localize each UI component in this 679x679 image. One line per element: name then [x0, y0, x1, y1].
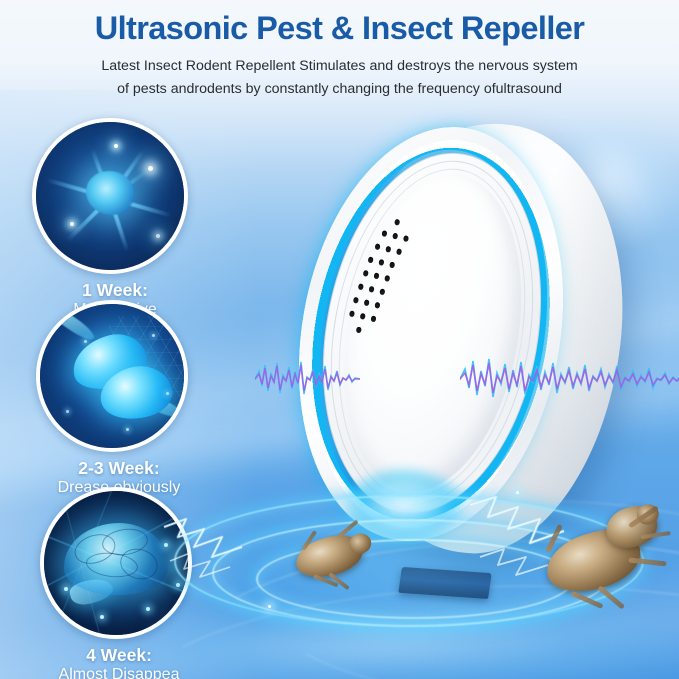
- floor-light-glow: [150, 600, 679, 679]
- callout-week-2-3-title: 2-3 Week:: [8, 459, 230, 479]
- callout-week-2-3: 2-3 Week: Drease obviously: [0, 300, 230, 497]
- ultrasonic-repeller-device: [300, 115, 660, 575]
- callout-week-1-title: 1 Week:: [0, 281, 230, 301]
- callout-week-1: 1 Week: More Active: [0, 118, 230, 319]
- product-marketing-poster: Ultrasonic Pest & Insect Repeller Latest…: [0, 0, 679, 679]
- synapse-image: [36, 300, 188, 452]
- neuron-cell-image: [32, 118, 188, 274]
- timeline-callouts: 1 Week: More Active: [0, 0, 250, 679]
